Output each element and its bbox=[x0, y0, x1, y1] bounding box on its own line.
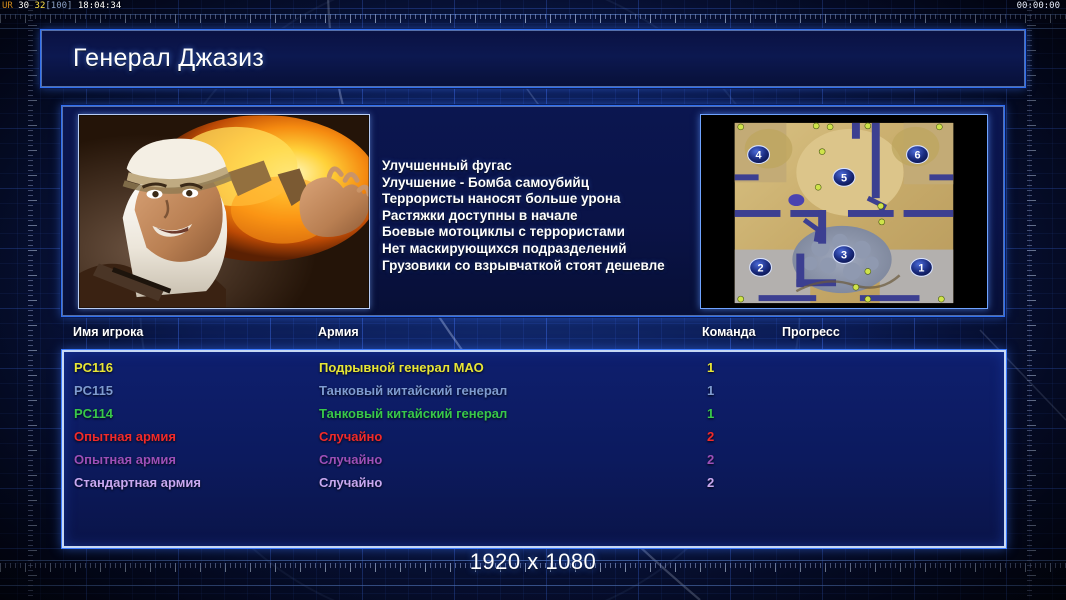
page-title: Генерал Джазиз bbox=[73, 43, 264, 72]
column-header-progress: Прогресс bbox=[782, 325, 840, 339]
table-row[interactable]: PC115Танковый китайский генерал1 bbox=[62, 379, 1006, 402]
player-name-cell: Опытная армия bbox=[74, 448, 176, 471]
debug-prefix: UR bbox=[2, 1, 13, 11]
debug-num: 32 bbox=[35, 1, 46, 11]
player-name-cell: PC116 bbox=[74, 356, 113, 379]
player-army-cell: Танковый китайский генерал bbox=[319, 402, 507, 425]
player-army-cell: Танковый китайский генерал bbox=[319, 379, 507, 402]
debug-fps: 30 bbox=[18, 1, 29, 11]
player-table-panel: PC116Подрывной генерал МАО1PC115Танковый… bbox=[61, 349, 1007, 549]
feature-item: Террористы наносят больше урона bbox=[382, 191, 704, 208]
player-rows: PC116Подрывной генерал МАО1PC115Танковый… bbox=[62, 356, 1006, 494]
player-name-cell: PC114 bbox=[74, 402, 113, 425]
grid-line bbox=[0, 585, 1066, 586]
general-features-list: Улучшенный фугас Улучшение - Бомба самоу… bbox=[382, 158, 704, 274]
start-position-3: 3 bbox=[841, 250, 847, 262]
feature-item: Улучшенный фугас bbox=[382, 158, 704, 175]
table-row[interactable]: PC114Танковый китайский генерал1 bbox=[62, 402, 1006, 425]
player-progress-bar bbox=[783, 379, 973, 392]
player-team-cell: 2 bbox=[707, 448, 714, 471]
feature-item: Нет маскирующихся подразделений bbox=[382, 241, 704, 258]
player-progress-bar bbox=[783, 356, 973, 369]
general-info-panel: Улучшенный фугас Улучшение - Бомба самоу… bbox=[61, 105, 1005, 317]
general-portrait bbox=[78, 114, 370, 309]
player-table-headers: Имя игрока Армия Команда Прогресс bbox=[61, 325, 1005, 347]
table-row[interactable]: Опытная армияСлучайно2 bbox=[62, 425, 1006, 448]
start-position-5: 5 bbox=[841, 172, 847, 184]
feature-item: Улучшение - Бомба самоубийц bbox=[382, 175, 704, 192]
table-row[interactable]: Опытная армияСлучайно2 bbox=[62, 448, 1006, 471]
player-name-cell: Опытная армия bbox=[74, 425, 176, 448]
feature-item: Растяжки доступны в начале bbox=[382, 208, 704, 225]
debug-bracket: [100] bbox=[45, 1, 72, 11]
main-frame: Генерал Джазиз bbox=[40, 29, 1026, 554]
player-army-cell: Подрывной генерал МАО bbox=[319, 356, 484, 379]
ruler-left bbox=[28, 0, 39, 600]
start-position-2: 2 bbox=[758, 262, 764, 274]
column-header-team: Команда bbox=[702, 325, 756, 339]
start-position-4: 4 bbox=[756, 150, 762, 162]
player-name-cell: Стандартная армия bbox=[74, 471, 201, 494]
map-preview[interactable]: 1 2 3 4 5 6 bbox=[700, 114, 988, 309]
table-row[interactable]: PC116Подрывной генерал МАО1 bbox=[62, 356, 1006, 379]
ruler-top bbox=[0, 14, 1066, 25]
start-position-1: 1 bbox=[918, 262, 924, 274]
player-team-cell: 1 bbox=[707, 402, 714, 425]
player-army-cell: Случайно bbox=[319, 425, 382, 448]
player-team-cell: 2 bbox=[707, 425, 714, 448]
debug-time: 18:04:34 bbox=[78, 1, 121, 11]
title-panel: Генерал Джазиз bbox=[40, 29, 1026, 88]
player-team-cell: 2 bbox=[707, 471, 714, 494]
clock-readout: 00:00:00 bbox=[1017, 1, 1060, 11]
player-army-cell: Случайно bbox=[319, 448, 382, 471]
column-header-army: Армия bbox=[318, 325, 359, 339]
player-progress-bar bbox=[783, 402, 973, 415]
feature-item: Грузовики со взрывчаткой стоят дешевле bbox=[382, 258, 704, 275]
start-position-6: 6 bbox=[914, 150, 920, 162]
feature-item: Боевые мотоциклы с террористами bbox=[382, 224, 704, 241]
player-team-cell: 1 bbox=[707, 356, 714, 379]
resolution-caption: 1920 x 1080 bbox=[0, 549, 1066, 575]
debug-overlay: UR 30 32[100] 18:04:34 bbox=[2, 1, 121, 11]
ruler-right bbox=[1027, 0, 1038, 600]
table-row[interactable]: Стандартная армияСлучайно2 bbox=[62, 471, 1006, 494]
player-name-cell: PC115 bbox=[74, 379, 113, 402]
player-army-cell: Случайно bbox=[319, 471, 382, 494]
column-header-name: Имя игрока bbox=[73, 325, 143, 339]
player-team-cell: 1 bbox=[707, 379, 714, 402]
